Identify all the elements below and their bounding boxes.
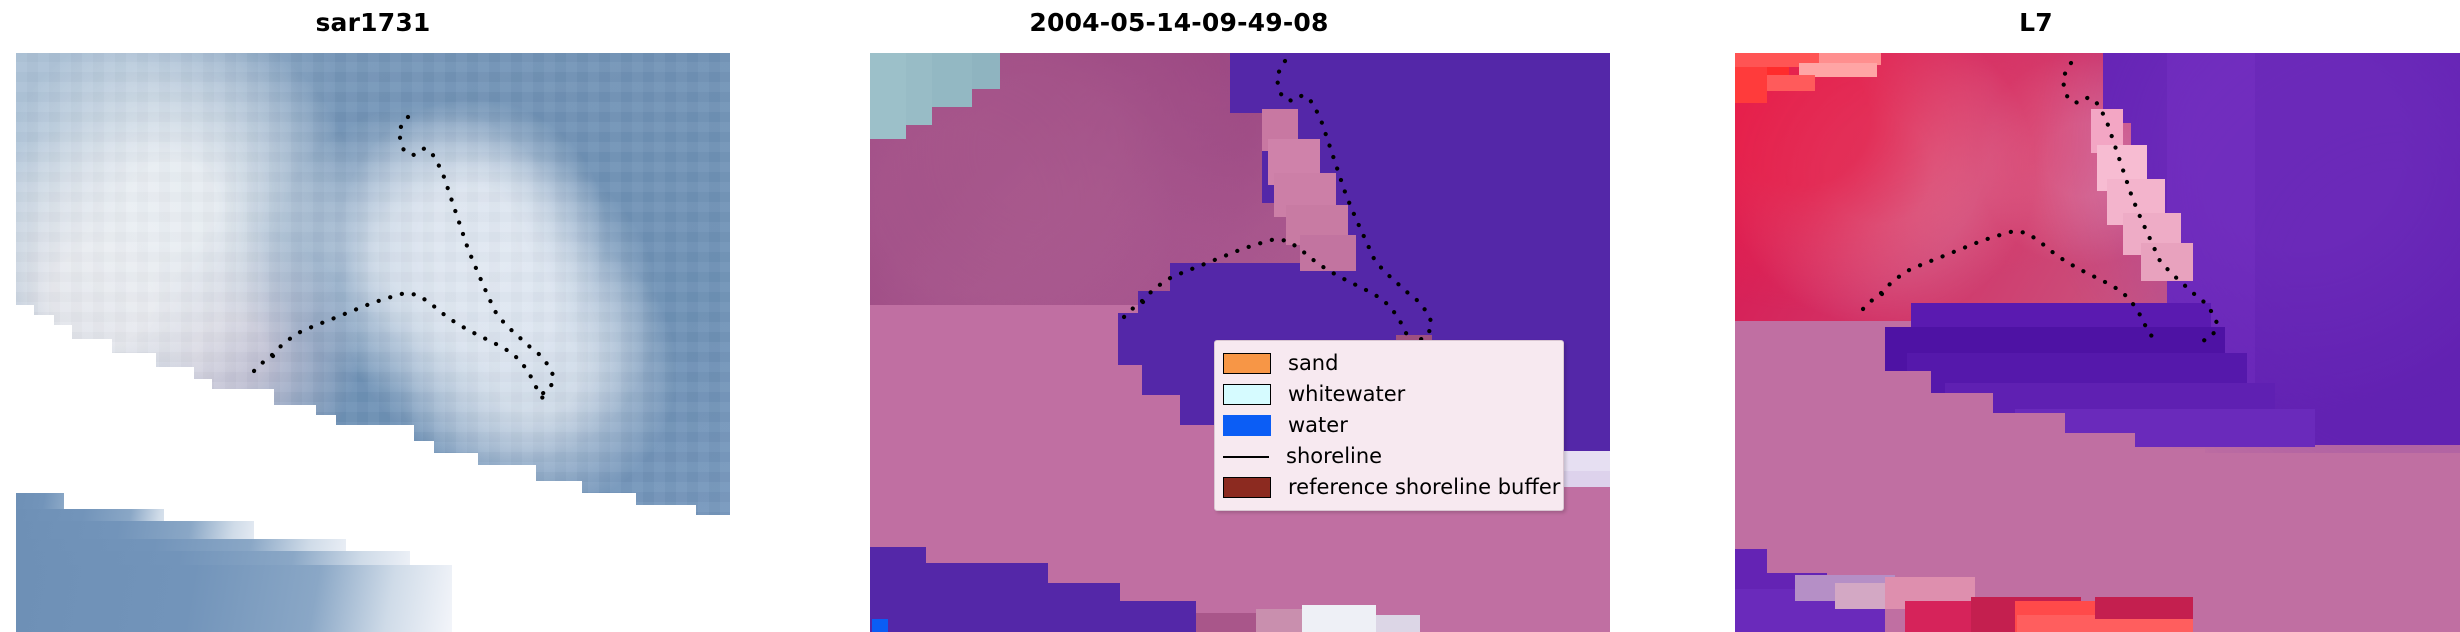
image-axes-1 [16,53,730,632]
panel-title-1: sar1731 [0,6,746,40]
whitewater-swatch-icon [1223,384,1271,405]
legend-item-water: water [1223,410,1553,441]
sand-swatch-icon [1223,353,1271,374]
legend-item-shoreline: shoreline [1223,441,1553,472]
legend: sand whitewater water shoreline referenc… [1214,340,1564,511]
figure-canvas: sar1731 [0,0,2460,632]
legend-label-shoreline: shoreline [1286,446,1382,467]
panel-2004-05-14-09-49-08: 2004-05-14-09-49-08 [746,0,1612,632]
raster-sar1731 [16,53,730,632]
legend-label-whitewater: whitewater [1288,384,1405,405]
reference-buffer-swatch-icon [1223,477,1271,498]
panel-l7: L7 [1612,0,2460,632]
raster-l7 [1735,53,2460,632]
water-swatch-icon [1223,415,1271,436]
shoreline-line-icon [1223,456,1269,458]
legend-item-sand: sand [1223,348,1553,379]
legend-label-sand: sand [1288,353,1338,374]
legend-label-water: water [1288,415,1348,436]
legend-item-reference-shoreline-buffer: reference shoreline buffer [1223,472,1553,503]
panel-sar1731: sar1731 [0,0,746,632]
image-axes-3 [1735,53,2460,632]
panel-title-3: L7 [1612,6,2460,40]
legend-item-whitewater: whitewater [1223,379,1553,410]
panel-title-2: 2004-05-14-09-49-08 [746,6,1612,40]
image-axes-2: sand whitewater water shoreline referenc… [870,53,1610,632]
legend-label-reference-shoreline-buffer: reference shoreline buffer [1288,477,1560,498]
